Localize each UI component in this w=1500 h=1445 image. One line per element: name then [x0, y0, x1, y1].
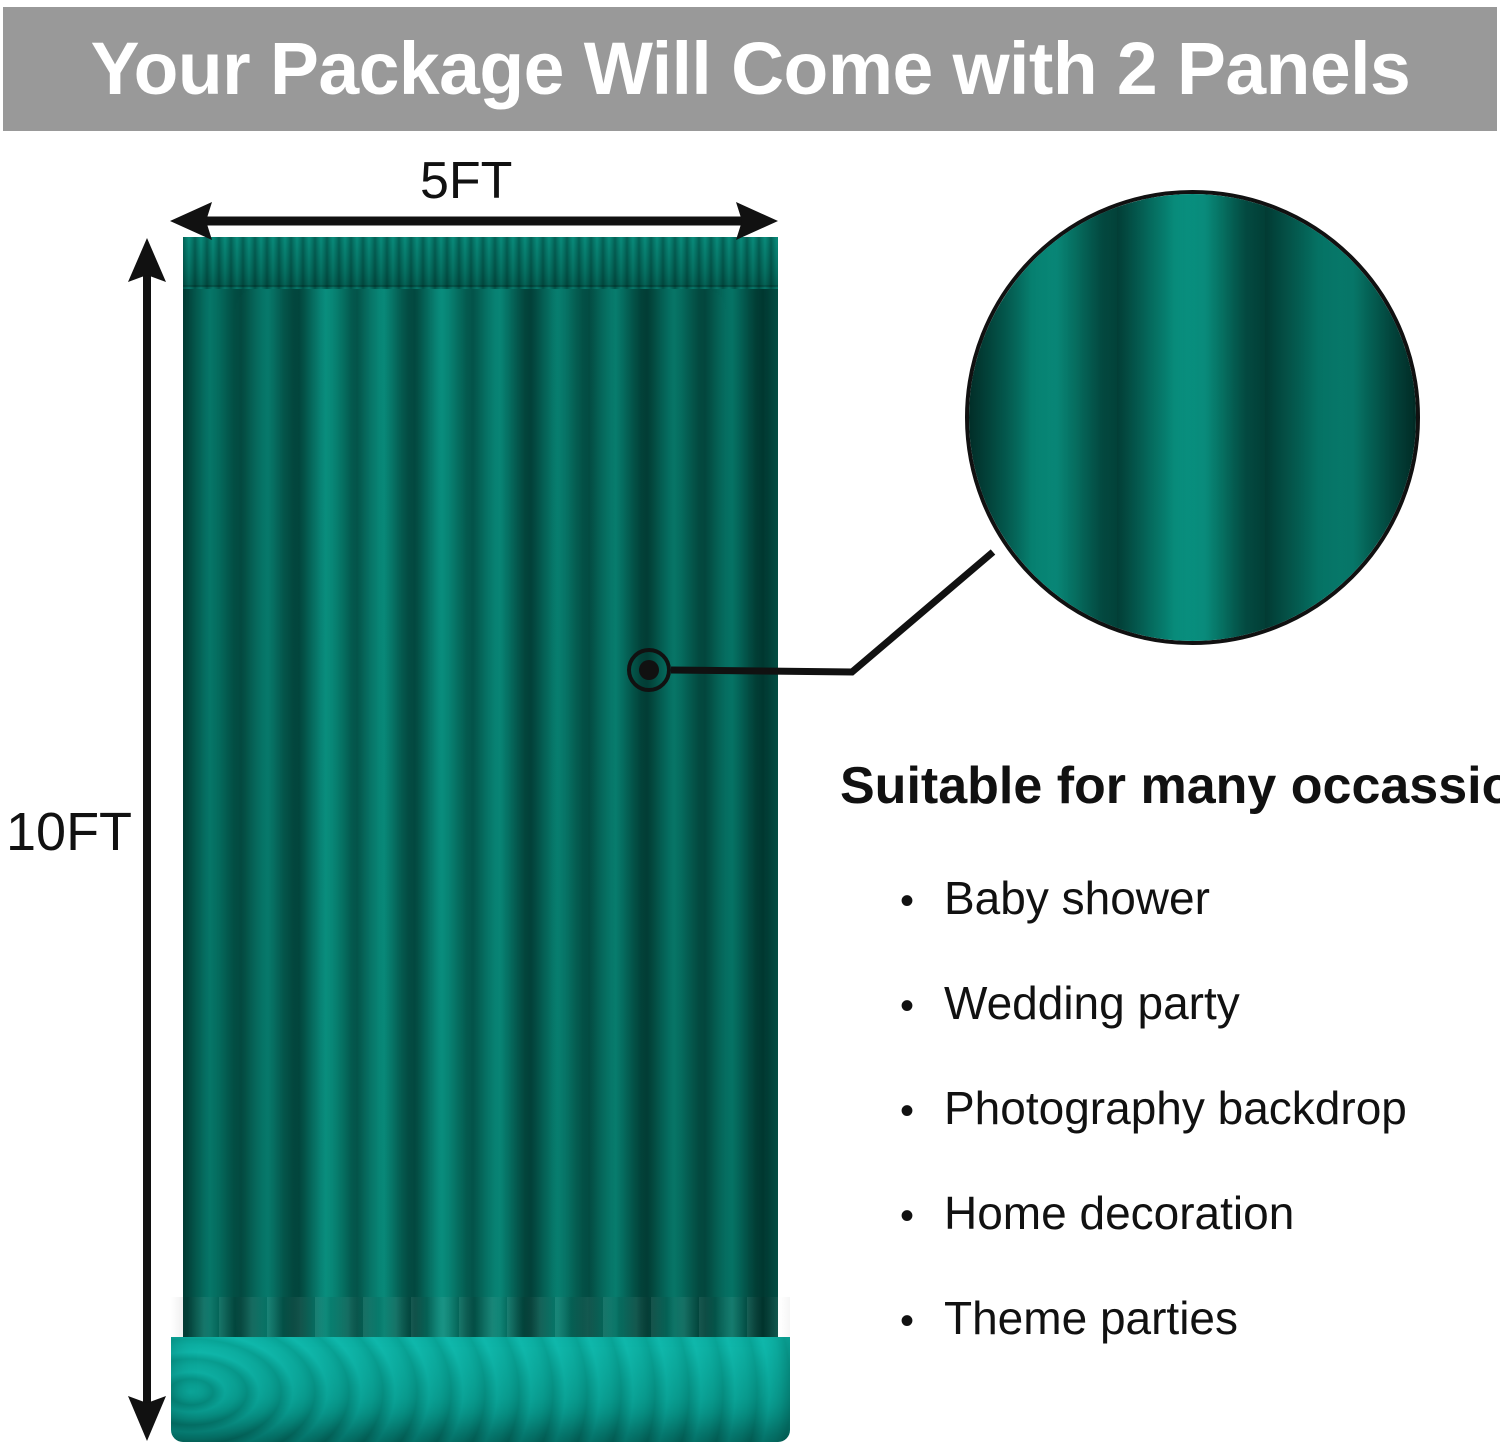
header-banner: Your Package Will Come with 2 Panels [3, 7, 1497, 131]
occasions-list: • Baby shower • Wedding party • Photogra… [900, 875, 1407, 1400]
curtain-sheen-overlay [183, 237, 778, 1392]
list-item-label: Home decoration [944, 1190, 1294, 1236]
list-item-label: Wedding party [944, 980, 1240, 1026]
list-item-label: Photography backdrop [944, 1085, 1407, 1131]
list-item: • Baby shower [900, 875, 1407, 980]
banner-title: Your Package Will Come with 2 Panels [90, 32, 1410, 106]
list-item: • Theme parties [900, 1295, 1407, 1400]
list-item-label: Theme parties [944, 1295, 1238, 1341]
curtain-pooled-hem [171, 1337, 790, 1442]
list-item: • Photography backdrop [900, 1085, 1407, 1190]
height-dimension-label: 10FT [6, 805, 132, 859]
callout-marker-dot [639, 660, 659, 680]
bullet-icon: • [900, 1196, 944, 1236]
bullet-icon: • [900, 1301, 944, 1341]
height-arrow-icon [128, 238, 166, 1441]
list-item: • Home decoration [900, 1190, 1407, 1295]
infographic-canvas: Your Package Will Come with 2 Panels 5FT… [0, 0, 1500, 1445]
magnifier-sheen-overlay [969, 194, 1416, 641]
curtain-rod-pocket [183, 237, 778, 289]
curtain-panel-image [183, 237, 778, 1442]
list-item: • Wedding party [900, 980, 1407, 1085]
occasions-heading: Suitable for many occassions: [840, 760, 1500, 812]
bullet-icon: • [900, 986, 944, 1026]
width-dimension-label: 5FT [420, 155, 512, 207]
list-item-label: Baby shower [944, 875, 1210, 921]
magnifier-circle [965, 190, 1420, 645]
curtain-header-seam [183, 285, 778, 289]
bullet-icon: • [900, 1091, 944, 1131]
bullet-icon: • [900, 881, 944, 921]
